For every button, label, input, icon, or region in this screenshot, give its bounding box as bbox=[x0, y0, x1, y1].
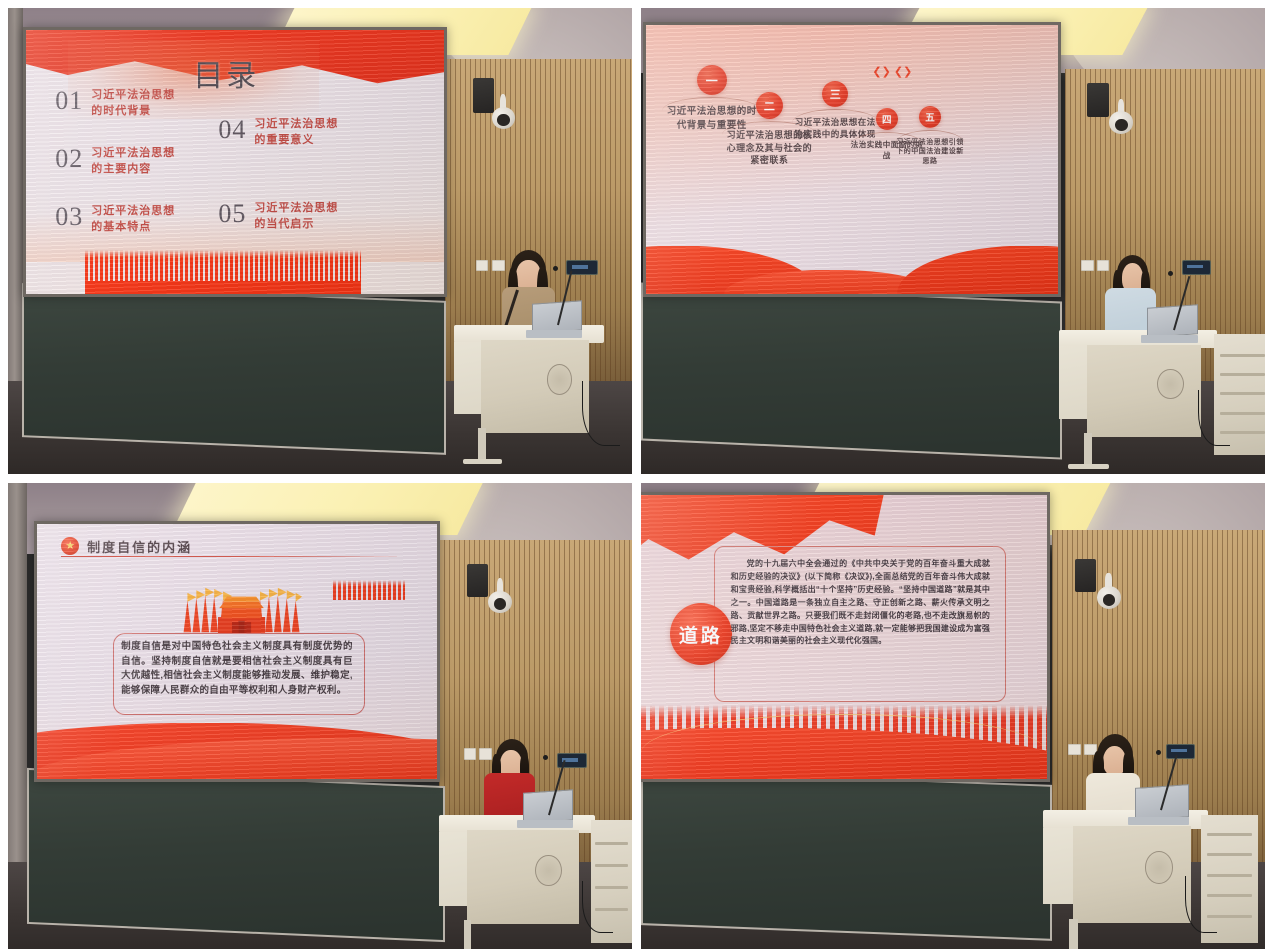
rack-slat bbox=[595, 864, 627, 867]
toc-item: 04 习近平法治思想的重要意义 bbox=[218, 117, 340, 149]
mini-skyline-decor bbox=[333, 580, 405, 600]
slide-title-rule bbox=[61, 556, 397, 557]
lectern-side-panel bbox=[1059, 346, 1089, 419]
ptz-camera bbox=[1109, 99, 1133, 134]
slide-institutional-confidence: ★ 制度自信的内涵 bbox=[37, 524, 437, 779]
lectern-emblem bbox=[547, 364, 572, 395]
toc-label: 习近平法治思想的主要内容 bbox=[91, 146, 177, 178]
wall-speaker bbox=[1087, 83, 1109, 118]
toc-label: 习近平法治思想的当代启示 bbox=[254, 201, 340, 233]
toc-label: 习近平法治思想的时代背景 bbox=[91, 88, 177, 120]
toc-item: 01 习近平法治思想的时代背景 bbox=[55, 88, 177, 120]
lectern-leg bbox=[1069, 919, 1077, 949]
toc-number: 03 bbox=[55, 204, 83, 230]
chalkboard bbox=[22, 283, 446, 455]
lecture-hall-scene: 一 习近平法治思想的时代背景与重要性 二 习近平法治思想的核心理念及其与社会的紧… bbox=[641, 8, 1265, 474]
toc-item: 02 习近平法治思想的主要内容 bbox=[55, 146, 177, 178]
chalkboard bbox=[641, 769, 1052, 941]
wall-control-panel[interactable] bbox=[1182, 260, 1211, 275]
lecture-hall-scene: ★ 制度自信的内涵 bbox=[8, 483, 632, 949]
lectern-foot bbox=[463, 459, 502, 464]
slide-heading-group: ★ 制度自信的内涵 bbox=[61, 537, 192, 556]
lectern bbox=[439, 815, 595, 949]
lectern-side-panel bbox=[454, 342, 482, 415]
node-marker: 一 bbox=[697, 65, 727, 95]
wall-control-panel[interactable] bbox=[1166, 744, 1195, 759]
slide-body-text: 制度自信是对中国特色社会主义制度具有制度优势的自信。坚持制度自信就是要相信社会主… bbox=[121, 640, 353, 699]
led-video-wall: 目录 01 习近平法治思想的时代背景 02 习近平法治思想的主要内容 03 习 bbox=[23, 27, 447, 297]
lectern-leg bbox=[478, 428, 485, 462]
led-video-wall: ★ 制度自信的内涵 bbox=[34, 521, 440, 782]
lectern-front-panel bbox=[467, 830, 579, 924]
outline-node: 五 习近平法治思想引领下的中国法治建设新思路 bbox=[895, 106, 965, 167]
chalkboard bbox=[641, 283, 1062, 461]
node-marker: 二 bbox=[756, 92, 783, 119]
photo-panel-top-left: 目录 01 习近平法治思想的时代背景 02 习近平法治思想的主要内容 03 习 bbox=[8, 8, 632, 474]
chalkboard bbox=[27, 768, 445, 943]
lectern-front-panel bbox=[1073, 826, 1191, 923]
lectern bbox=[1059, 330, 1217, 470]
wall-panel-display bbox=[1171, 749, 1187, 752]
laptop-screen[interactable] bbox=[1147, 304, 1198, 338]
rack-slat bbox=[595, 842, 627, 845]
toc-label: 习近平法治思想的基本特点 bbox=[91, 204, 177, 236]
toc-number: 02 bbox=[55, 146, 83, 172]
wall-panel-display bbox=[1187, 265, 1203, 268]
slide-numbered-outline: 一 习近平法治思想的时代背景与重要性 二 习近平法治思想的核心理念及其与社会的紧… bbox=[646, 25, 1058, 294]
toc-item: 05 习近平法治思想的当代启示 bbox=[218, 201, 340, 233]
party-emblem-icon: ★ bbox=[61, 537, 79, 555]
lecture-hall-scene: 道路 党的十九届六中全会通过的《中共中央关于党的百年奋斗重大成就和历史经验的决议… bbox=[641, 483, 1265, 949]
rack-slat bbox=[1207, 853, 1253, 856]
toc-item: 03 习近平法治思想的基本特点 bbox=[55, 204, 177, 236]
toc-number: 04 bbox=[218, 117, 246, 143]
node-label: 习近平法治思想引领下的中国法治建设新思路 bbox=[895, 138, 965, 167]
ptz-camera bbox=[488, 578, 512, 614]
lectern-leg bbox=[1084, 433, 1092, 467]
wall-socket[interactable] bbox=[1081, 260, 1094, 271]
laptop-keyboard[interactable] bbox=[517, 820, 573, 828]
slide-table-of-contents: 目录 01 习近平法治思想的时代背景 02 习近平法治思想的主要内容 03 习 bbox=[26, 30, 444, 294]
toc-label: 习近平法治思想的重要意义 bbox=[254, 117, 340, 149]
lecture-hall-scene: 目录 01 习近平法治思想的时代背景 02 习近平法治思想的主要内容 03 习 bbox=[8, 8, 632, 474]
ptz-lens bbox=[497, 114, 509, 126]
flying-birds-icon: ❮❯ ❮❯ bbox=[872, 65, 912, 78]
ptz-camera bbox=[1097, 573, 1121, 609]
laptop-screen[interactable] bbox=[532, 300, 582, 334]
led-video-wall: 一 习近平法治思想的时代背景与重要性 二 习近平法治思想的核心理念及其与社会的紧… bbox=[643, 22, 1061, 297]
lectern-front-panel bbox=[481, 340, 589, 432]
lectern bbox=[1043, 810, 1208, 949]
wall-socket[interactable] bbox=[476, 260, 488, 271]
rack-slat bbox=[1220, 354, 1265, 357]
laptop-keyboard[interactable] bbox=[1141, 335, 1198, 342]
slide-road-quotation: 道路 党的十九届六中全会通过的《中共中央关于党的百年奋斗重大成就和历史经验的决议… bbox=[641, 495, 1046, 778]
laptop-keyboard[interactable] bbox=[526, 330, 582, 337]
rack-slat bbox=[1207, 833, 1253, 836]
toc-number: 01 bbox=[55, 88, 83, 114]
toc-number: 05 bbox=[218, 201, 246, 227]
lectern-emblem bbox=[1145, 851, 1173, 883]
lectern-front-panel bbox=[1087, 345, 1201, 437]
wall-speaker bbox=[1075, 559, 1097, 592]
photo-panel-bottom-left: ★ 制度自信的内涵 bbox=[8, 483, 632, 949]
ptz-lens bbox=[1103, 594, 1116, 606]
gate-building bbox=[218, 596, 265, 633]
photo-panel-top-right: 一 习近平法治思想的时代背景与重要性 二 习近平法治思想的核心理念及其与社会的紧… bbox=[641, 8, 1265, 474]
laptop-screen[interactable] bbox=[523, 789, 573, 823]
slide-city-base bbox=[85, 281, 361, 294]
rack-slat bbox=[1220, 373, 1265, 376]
lectern-foot bbox=[1068, 464, 1109, 469]
microphone-head bbox=[553, 266, 558, 271]
lectern-leg bbox=[464, 920, 472, 949]
wall-speaker bbox=[467, 564, 488, 597]
ptz-camera bbox=[492, 94, 516, 129]
slide-badge: 道路 bbox=[670, 603, 732, 665]
slide-title: 制度自信的内涵 bbox=[87, 537, 192, 556]
ptz-lens bbox=[1115, 119, 1128, 131]
laptop-keyboard[interactable] bbox=[1128, 817, 1188, 825]
led-video-wall: 道路 党的十九届六中全会通过的《中共中央关于党的百年奋斗重大成就和历史经验的决议… bbox=[641, 492, 1050, 781]
lectern-side-panel bbox=[1043, 828, 1074, 904]
photo-panel-bottom-right: 道路 党的十九届六中全会通过的《中共中央关于党的百年奋斗重大成就和历史经验的决议… bbox=[641, 483, 1265, 949]
lectern-side-panel bbox=[439, 832, 469, 906]
node-marker: 三 bbox=[822, 81, 848, 107]
lectern-emblem bbox=[535, 855, 562, 886]
photo-grid: 目录 01 习近平法治思想的时代背景 02 习近平法治思想的主要内容 03 习 bbox=[0, 0, 1265, 949]
lectern-emblem bbox=[1157, 369, 1184, 400]
microphone-head bbox=[1156, 750, 1161, 755]
node-marker: 五 bbox=[919, 106, 941, 128]
slide-body-text: 党的十九届六中全会通过的《中共中央关于党的百年奋斗重大成就和历史经验的决议》(以… bbox=[731, 558, 990, 649]
